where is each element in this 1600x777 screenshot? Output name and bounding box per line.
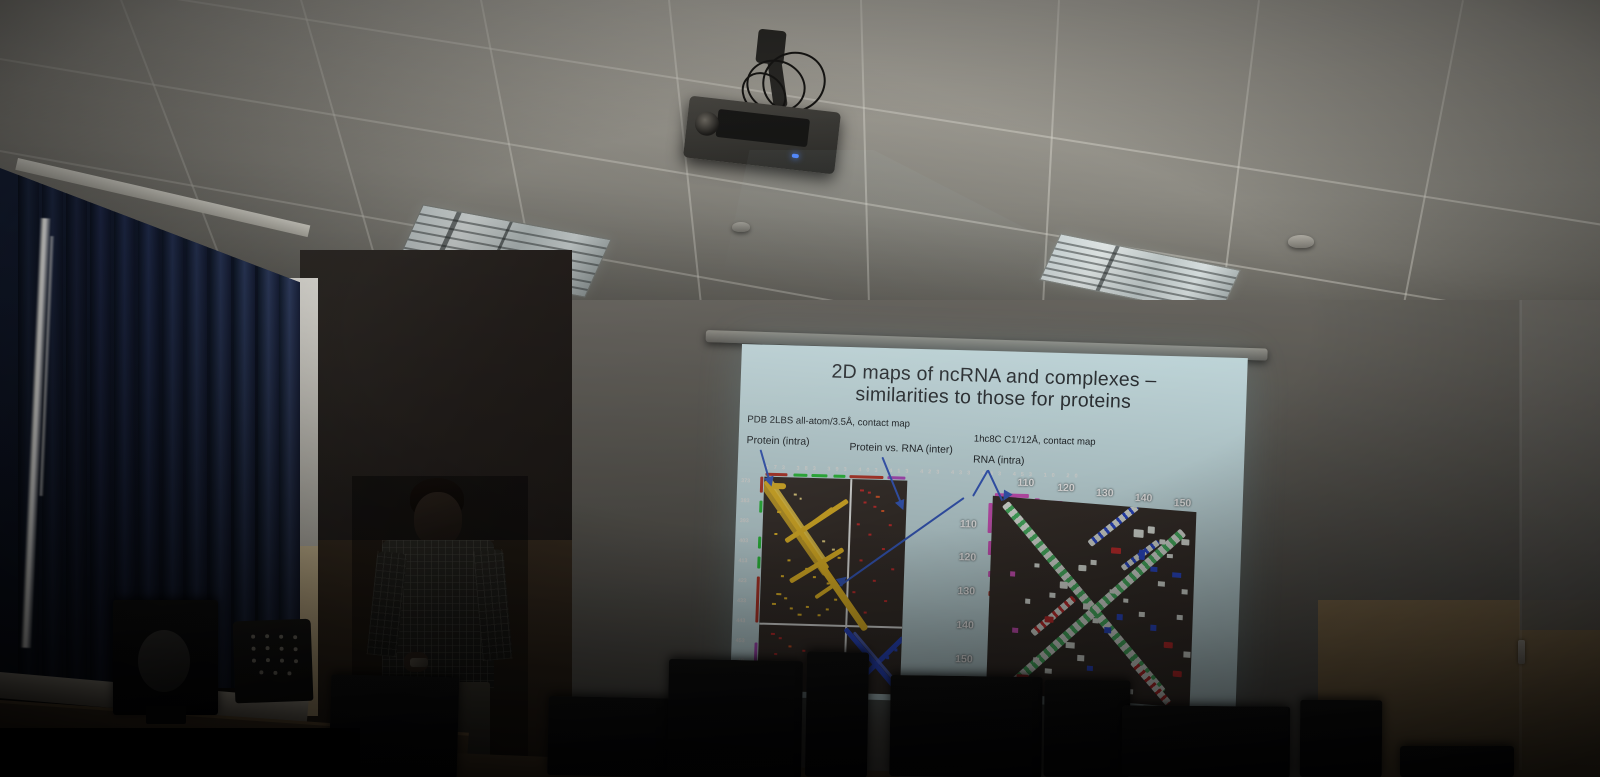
projector-power-led <box>792 154 799 159</box>
monitor-front-4[interactable] <box>805 651 869 777</box>
monitor-front-9[interactable] <box>1400 746 1514 777</box>
monitor-back-left[interactable] <box>113 600 218 715</box>
monitor-front-8[interactable] <box>1300 700 1383 777</box>
presenter-head <box>414 492 462 546</box>
monitor-front-6[interactable] <box>1043 680 1130 777</box>
right-rna-intra-label: RNA (intra) <box>973 454 1025 466</box>
left-map-divider-horizontal <box>759 623 902 629</box>
right-contact-map: 110 120 130 140 150 110 120 130 140 150 <box>958 478 1198 708</box>
monitor-front-3[interactable] <box>667 659 803 777</box>
lecture-room-scene: 2D maps of ncRNA and complexes – similar… <box>0 0 1600 777</box>
slide-title: 2D maps of ncRNA and complexes – similar… <box>740 358 1247 417</box>
presenter-held-object <box>410 658 428 667</box>
left-protein-intra-label: Protein (intra) <box>746 435 809 448</box>
foreground-shadow-mass <box>0 728 360 777</box>
monitor-front-7[interactable] <box>1122 705 1290 777</box>
monitor-stand-bulge <box>138 630 190 692</box>
monitor-back-left-stand <box>146 706 186 724</box>
inter-label: Protein vs. RNA (inter) <box>849 442 953 456</box>
right-map-anti-diagonal <box>1006 529 1186 691</box>
chair-left[interactable] <box>233 619 314 704</box>
monitor-front-5[interactable] <box>889 675 1042 777</box>
right-map-caption: 1hc8C C1′/12Å, contact map <box>974 434 1096 448</box>
left-map-caption: PDB 2LBS all-atom/3.5Å, contact map <box>747 414 910 430</box>
